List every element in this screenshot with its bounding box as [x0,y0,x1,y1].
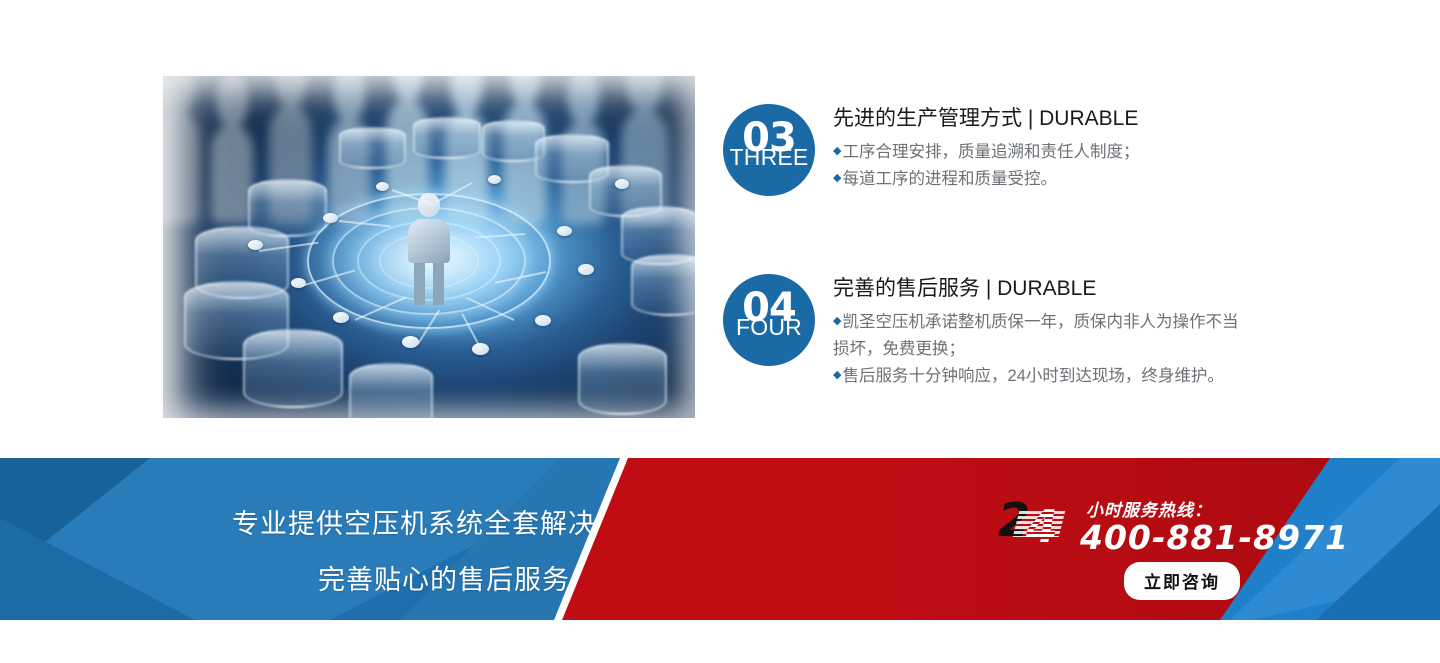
hotline-phone-number: 400-881-8971 [1080,518,1349,557]
feature-bullet-text: 凯圣空压机承诺整机质保一年，质保内非人为操作不当损坏，免费更换； [833,313,1238,358]
feature-text-04: 完善的售后服务 | DURABLE ◆凯圣空压机承诺整机质保一年，质保内非人为操… [833,274,1241,389]
bullet-diamond-icon: ◆ [833,369,841,381]
features-section: 03 THREE 先进的生产管理方式 | DURABLE ◆工序合理安排，质量追… [0,0,1440,458]
feature-title: 先进的生产管理方式 | DURABLE [833,106,1139,131]
feature-bullet: ◆每道工序的进程和质量受控。 [833,166,1139,193]
consult-now-button[interactable]: 立即咨询 [1124,562,1240,600]
badge-03: 03 THREE [723,104,815,196]
feature-bullet-text: 售后服务十分钟响应，24小时到达现场，终身维护。 [842,367,1223,385]
badge-04: 04 FOUR [723,274,815,366]
feature-bullet: ◆售后服务十分钟响应，24小时到达现场，终身维护。 [833,363,1241,390]
badge-word: FOUR [736,316,802,339]
bullet-diamond-icon: ◆ [833,145,841,157]
person-figure [408,193,450,305]
feature-title: 完善的售后服务 | DURABLE [833,276,1241,301]
feature-bullet-text: 每道工序的进程和质量受控。 [842,170,1057,188]
feature-bullet: ◆凯圣空压机承诺整机质保一年，质保内非人为操作不当损坏，免费更换； [833,309,1241,362]
feature-item-04: 04 FOUR 完善的售后服务 | DURABLE ◆凯圣空压机承诺整机质保一年… [723,274,1241,389]
feature-bullet: ◆工序合理安排，质量追溯和责任人制度； [833,139,1139,166]
hotline-24-logo: 2 4 [998,498,1084,548]
network-illustration-image [163,76,695,418]
badge-word: THREE [730,146,809,169]
feature-item-03: 03 THREE 先进的生产管理方式 | DURABLE ◆工序合理安排，质量追… [723,104,1139,196]
hotline-block: 2 4 小时服务热线： 400-881-8971 立即咨询 [998,496,1298,606]
hotline-digit-4: 4 [1026,504,1058,550]
bullet-diamond-icon: ◆ [833,315,841,327]
bullet-diamond-icon: ◆ [833,172,841,184]
feature-bullet-text: 工序合理安排，质量追溯和责任人制度； [842,143,1139,161]
platform-rings [279,176,579,346]
feature-text-03: 先进的生产管理方式 | DURABLE ◆工序合理安排，质量追溯和责任人制度； … [833,104,1139,193]
